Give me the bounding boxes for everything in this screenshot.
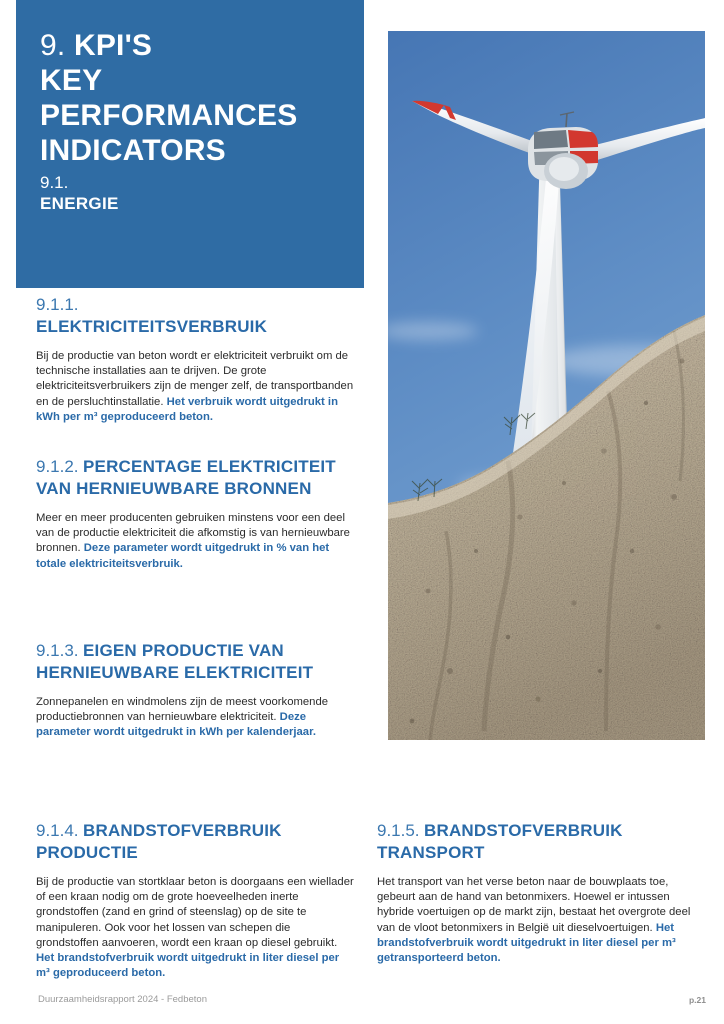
subsection-label: ENERGIE xyxy=(40,193,340,214)
section-9-1-2: 9.1.2. PERCENTAGE ELEKTRICITEIT VAN HERN… xyxy=(36,456,356,572)
section-9-1-1-body: Bij de productie van beton wordt er elek… xyxy=(36,349,356,425)
chapter-number: 9. xyxy=(40,29,65,62)
footer-page-number: p.21 xyxy=(689,994,706,1007)
section-9-1-4-body-highlight: Het brandstofverbruik wordt uitgedrukt i… xyxy=(36,952,339,979)
title-line-2: KEY xyxy=(40,64,102,97)
section-9-1-3-number: 9.1.3. xyxy=(36,641,79,660)
wind-turbine-photo: Limburg win xyxy=(388,31,705,740)
section-9-1-5-title: 9.1.5. BRANDSTOFVERBRUIK TRANSPORT xyxy=(377,820,702,864)
section-9-1-4-body-plain: Bij de productie van stortklaar beton is… xyxy=(36,876,354,949)
section-9-1-4-body: Bij de productie van stortklaar beton is… xyxy=(36,875,356,981)
section-9-1-1-heading: ELEKTRICITEITSVERBRUIK xyxy=(36,316,356,338)
section-9-1-1-number: 9.1.1. xyxy=(36,294,356,316)
section-9-1-5-body-plain: Het transport van het verse beton naar d… xyxy=(377,876,690,934)
title-line-1: KPI'S xyxy=(74,29,152,62)
section-9-1-2-number: 9.1.2. xyxy=(36,457,79,476)
wind-turbine-illustration: Limburg win xyxy=(388,31,705,740)
section-9-1-4-number: 9.1.4. xyxy=(36,821,79,840)
section-9-1-5: 9.1.5. BRANDSTOFVERBRUIK TRANSPORT Het t… xyxy=(377,820,702,966)
page-title: 9. KPI'S KEY PERFORMANCES INDICATORS xyxy=(40,28,340,168)
title-line-4: INDICATORS xyxy=(40,134,226,167)
section-9-1-3-body: Zonnepanelen en windmolens zijn de meest… xyxy=(36,695,356,741)
section-9-1-5-number: 9.1.5. xyxy=(377,821,420,840)
section-9-1-3-title: 9.1.3. EIGEN PRODUCTIE VAN HERNIEUWBARE … xyxy=(36,640,356,684)
footer-report-title: Duurzaamheidsrapport 2024 - Fedbeton xyxy=(38,993,207,1006)
section-9-1-1-title: 9.1.1. ELEKTRICITEITSVERBRUIK xyxy=(36,294,356,338)
page-footer: Duurzaamheidsrapport 2024 - Fedbeton p.2… xyxy=(0,993,724,1013)
chapter-hero-panel: 9. KPI'S KEY PERFORMANCES INDICATORS 9.1… xyxy=(16,0,364,288)
title-line-3: PERFORMANCES xyxy=(40,99,297,132)
section-9-1-2-body: Meer en meer producenten gebruiken minst… xyxy=(36,511,356,572)
section-9-1-4-title: 9.1.4. BRANDSTOFVERBRUIK PRODUCTIE xyxy=(36,820,356,864)
section-9-1-1: 9.1.1. ELEKTRICITEITSVERBRUIK Bij de pro… xyxy=(36,294,356,425)
section-9-1-5-body: Het transport van het verse beton naar d… xyxy=(377,875,702,966)
subsection-number: 9.1. xyxy=(40,173,340,193)
section-9-1-3: 9.1.3. EIGEN PRODUCTIE VAN HERNIEUWBARE … xyxy=(36,640,356,741)
section-9-1-2-heading: PERCENTAGE ELEKTRICITEIT VAN HERNIEUWBAR… xyxy=(36,457,336,498)
section-9-1-2-title: 9.1.2. PERCENTAGE ELEKTRICITEIT VAN HERN… xyxy=(36,456,356,500)
section-9-1-4: 9.1.4. BRANDSTOFVERBRUIK PRODUCTIE Bij d… xyxy=(36,820,356,981)
